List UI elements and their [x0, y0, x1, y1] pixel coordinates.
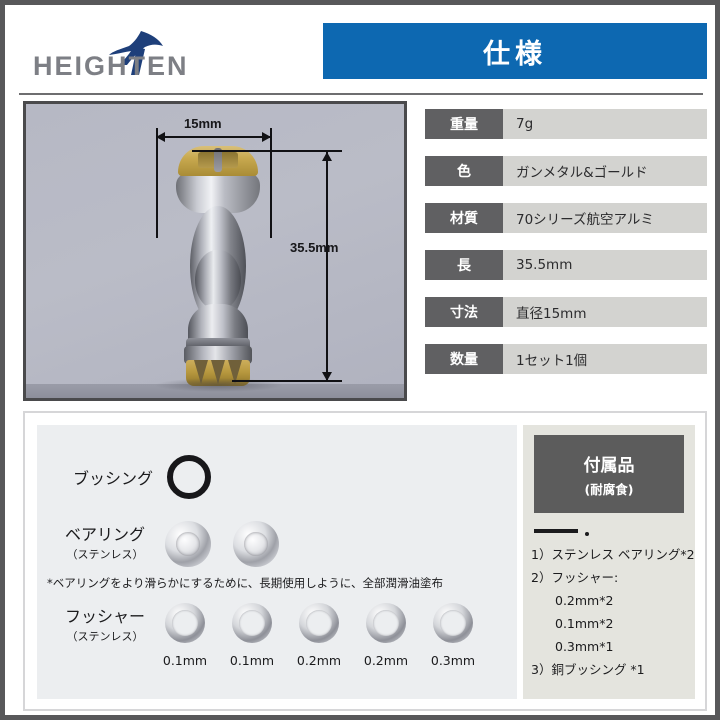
dim-line-height: [326, 152, 328, 380]
table-row: 重量 7g: [425, 109, 707, 139]
washer-size: 0.1mm: [155, 653, 215, 668]
dim-arrow-left: [156, 132, 165, 142]
specification-table: 重量 7g 色 ガンメタル&ゴールド 材質 70シリーズ航空アルミ 長 35.5…: [425, 109, 707, 391]
spec-key: 重量: [425, 109, 503, 139]
accessories-list: 1）ステンレス ベアリング*2 2）フッシャー: 0.2mm*2 0.1mm*2…: [531, 543, 693, 681]
accessories-panel: 付属品 (耐腐食) 1）ステンレス ベアリング*2 2）フッシャー: 0.2mm…: [523, 425, 695, 699]
brand-name: HEIGHTEN: [33, 51, 233, 82]
list-item: 1）ステンレス ベアリング*2: [531, 543, 693, 566]
dim-ext-left: [156, 128, 158, 238]
bearing-label: ベアリング: [65, 521, 145, 545]
accessories-subtitle: (耐腐食): [585, 479, 634, 498]
spec-value: 7g: [503, 109, 707, 139]
table-row: 長 35.5mm: [425, 250, 707, 280]
washer-size: 0.2mm: [289, 653, 349, 668]
washer-part: [232, 603, 272, 643]
dim-ext-right: [270, 128, 272, 238]
washer-sublabel: （ステンレス）: [65, 628, 145, 644]
dim-line-top: [192, 150, 342, 152]
accessories-title: 付属品: [584, 451, 635, 476]
bushing-label-group: ブッシング: [73, 465, 153, 489]
spec-banner: 仕様: [323, 23, 707, 79]
washer-part: [366, 603, 406, 643]
spec-value: ガンメタル&ゴールド: [503, 156, 707, 186]
list-item: 0.1mm*2: [531, 612, 693, 635]
spec-key: 色: [425, 156, 503, 186]
washer-part: [299, 603, 339, 643]
dim-line-width: [158, 136, 271, 138]
banner-title: 仕様: [483, 32, 547, 71]
dim-arrow-up: [322, 152, 332, 161]
washer-size: 0.3mm: [423, 653, 483, 668]
dim-label-height: 35.5mm: [290, 240, 338, 255]
page-header: HEIGHTEN 仕様: [5, 5, 715, 93]
accessories-dot: [585, 532, 589, 536]
spec-key: 数量: [425, 344, 503, 374]
knob-waist: [195, 250, 241, 310]
bearing-part: [165, 521, 211, 567]
table-row: 数量 1セット1個: [425, 344, 707, 374]
brand-logo: HEIGHTEN: [33, 27, 233, 83]
dim-arrow-down: [322, 372, 332, 381]
accessories-header: 付属品 (耐腐食): [534, 435, 684, 513]
spec-value: 35.5mm: [503, 250, 707, 280]
bushing-label: ブッシング: [73, 465, 153, 489]
reel-knob-illustration: [164, 146, 272, 382]
table-row: 寸法 直径15mm: [425, 297, 707, 327]
spec-key: 寸法: [425, 297, 503, 327]
washer-part: [165, 603, 205, 643]
bushing-part: [167, 455, 211, 499]
table-row: 色 ガンメタル&ゴールド: [425, 156, 707, 186]
list-item: 2）フッシャー:: [531, 566, 693, 589]
product-spec-page: HEIGHTEN 仕様 15mm: [0, 0, 720, 720]
header-divider: [19, 93, 703, 95]
washer-size: 0.1mm: [222, 653, 282, 668]
spec-key: 長: [425, 250, 503, 280]
bearing-part: [233, 521, 279, 567]
list-item: 3）銅ブッシング *1: [531, 658, 693, 681]
washer-label: フッシャー: [65, 603, 145, 627]
spec-value: 直径15mm: [503, 297, 707, 327]
spec-value: 1セット1個: [503, 344, 707, 374]
washer-part: [433, 603, 473, 643]
washer-size: 0.2mm: [356, 653, 416, 668]
product-photo-panel: 15mm 35.5mm: [23, 101, 407, 401]
bearing-sublabel: （ステンレス）: [65, 546, 145, 562]
bearing-label-group: ベアリング （ステンレス）: [65, 521, 145, 562]
bearing-note: *ベアリングをより滑らかにするために、長期使用しように、全部潤滑油塗布: [47, 575, 443, 591]
table-row: 材質 70シリーズ航空アルミ: [425, 203, 707, 233]
dim-label-width: 15mm: [184, 116, 222, 131]
list-item: 0.3mm*1: [531, 635, 693, 658]
accessories-divider: [534, 529, 578, 533]
washer-label-group: フッシャー （ステンレス）: [65, 603, 145, 644]
spec-value: 70シリーズ航空アルミ: [503, 203, 707, 233]
parts-panel: ブッシング ベアリング （ステンレス） *ベアリングをより滑らかにするために、長…: [23, 411, 707, 711]
list-item: 0.2mm*2: [531, 589, 693, 612]
parts-diagram: ブッシング ベアリング （ステンレス） *ベアリングをより滑らかにするために、長…: [37, 425, 517, 699]
dim-arrow-right: [262, 132, 271, 142]
spec-key: 材質: [425, 203, 503, 233]
